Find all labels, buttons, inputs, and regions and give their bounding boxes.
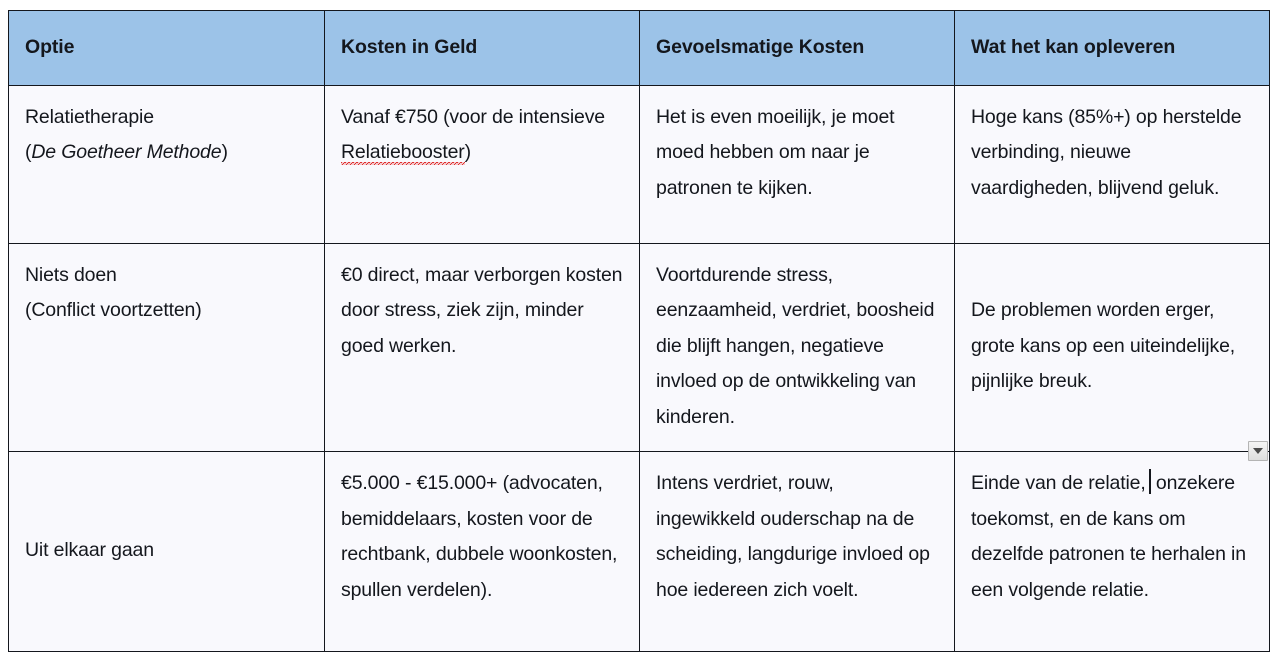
document-canvas: Optie Kosten in Geld Gevoelsmatige Koste…	[0, 0, 1279, 641]
optie-title: Relatietherapie	[25, 106, 154, 128]
table-row: Uit elkaar gaan €5.000 - €15.000+ (advoc…	[9, 452, 1270, 652]
cell-kosten-uit-elkaar-gaan[interactable]: €5.000 - €15.000+ (advocaten, bemiddelaa…	[325, 452, 640, 652]
column-header-wat-het-kan-opleveren[interactable]: Wat het kan opleveren	[955, 11, 1270, 86]
cell-gevoelsmatige-uit-elkaar-gaan[interactable]: Intens verdriet, rouw, ingewikkeld ouder…	[640, 452, 955, 652]
opleveren-text-before-caret: Einde van de relatie,	[971, 472, 1146, 494]
optie-title: Niets doen	[25, 264, 117, 286]
cell-kosten-niets-doen[interactable]: €0 direct, maar verborgen kosten door st…	[325, 244, 640, 452]
kosten-text-suffix: )	[465, 141, 471, 163]
table-body: Relatietherapie (De Goetheer Methode) Va…	[9, 86, 1270, 652]
cell-optie-uit-elkaar-gaan[interactable]: Uit elkaar gaan	[9, 452, 325, 652]
cell-optie-niets-doen[interactable]: Niets doen (Conflict voortzetten)	[9, 244, 325, 452]
chevron-down-icon	[1253, 448, 1263, 454]
optie-subtitle: (Conflict voortzetten)	[25, 299, 202, 321]
table-row: Relatietherapie (De Goetheer Methode) Va…	[9, 86, 1270, 244]
optie-subtitle-italic: De Goetheer Methode	[31, 141, 221, 163]
cell-gevoelsmatige-niets-doen[interactable]: Voortdurende stress, eenzaamheid, verdri…	[640, 244, 955, 452]
scrollbar-down-arrow-button[interactable]	[1248, 441, 1268, 461]
cell-gevoelsmatige-relatietherapie[interactable]: Het is even moeilijk, je moet moed hebbe…	[640, 86, 955, 244]
column-header-optie[interactable]: Optie	[9, 11, 325, 86]
cell-opleveren-niets-doen[interactable]: De problemen worden erger, grote kans op…	[955, 244, 1270, 452]
cell-optie-relatietherapie[interactable]: Relatietherapie (De Goetheer Methode)	[9, 86, 325, 244]
kosten-text-prefix: Vanaf €750 (voor de intensieve	[341, 106, 605, 128]
column-header-gevoelsmatige-kosten[interactable]: Gevoelsmatige Kosten	[640, 11, 955, 86]
table-header: Optie Kosten in Geld Gevoelsmatige Koste…	[9, 11, 1270, 86]
table-row: Niets doen (Conflict voortzetten) €0 dir…	[9, 244, 1270, 452]
cell-opleveren-uit-elkaar-gaan[interactable]: Einde van de relatie, onzekere toekomst,…	[955, 452, 1270, 652]
cell-opleveren-relatietherapie[interactable]: Hoge kans (85%+) op herstelde verbinding…	[955, 86, 1270, 244]
column-header-kosten-in-geld[interactable]: Kosten in Geld	[325, 11, 640, 86]
spellcheck-misspelled-word[interactable]: Relatiebooster	[341, 141, 465, 165]
optie-subtitle-close: )	[221, 141, 227, 163]
table-header-row: Optie Kosten in Geld Gevoelsmatige Koste…	[9, 11, 1270, 86]
cell-kosten-relatietherapie[interactable]: Vanaf €750 (voor de intensieve Relatiebo…	[325, 86, 640, 244]
comparison-table: Optie Kosten in Geld Gevoelsmatige Koste…	[8, 10, 1270, 652]
